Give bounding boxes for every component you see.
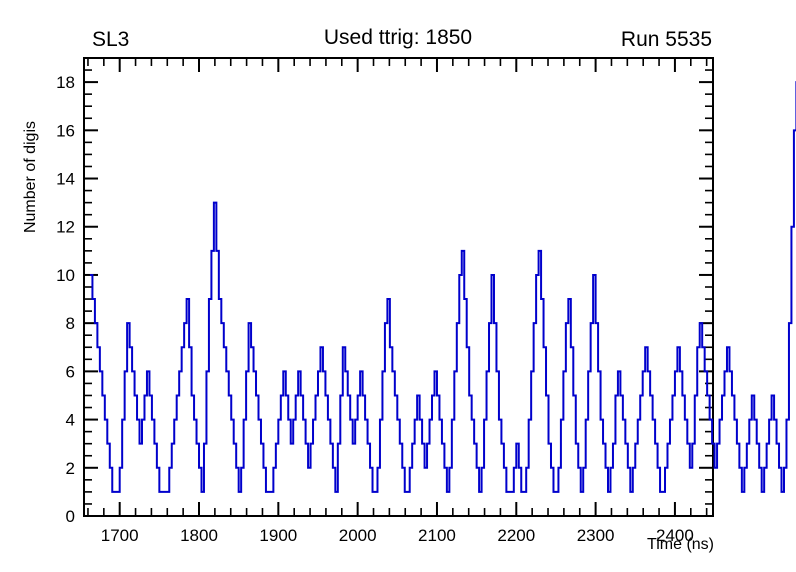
x-axis-tick-labels: 17001800190020002100220023002400 — [101, 526, 694, 545]
svg-text:2100: 2100 — [418, 526, 456, 545]
svg-text:1900: 1900 — [259, 526, 297, 545]
data-series-digis — [90, 82, 796, 516]
svg-text:12: 12 — [56, 218, 75, 237]
svg-text:2300: 2300 — [577, 526, 615, 545]
svg-text:14: 14 — [56, 170, 75, 189]
svg-text:0: 0 — [66, 507, 75, 526]
svg-text:10: 10 — [56, 266, 75, 285]
y-axis-ticks — [84, 58, 713, 516]
y-axis-tick-labels: 024681012141618 — [56, 73, 75, 526]
plot-area: 024681012141618 170018001900200021002200… — [0, 0, 796, 572]
svg-text:2000: 2000 — [339, 526, 377, 545]
svg-text:4: 4 — [66, 411, 75, 430]
svg-text:16: 16 — [56, 121, 75, 140]
root-canvas: SL3 Used ttrig: 1850 Run 5535 Number of … — [0, 0, 796, 572]
svg-text:2200: 2200 — [497, 526, 535, 545]
svg-text:6: 6 — [66, 362, 75, 381]
svg-text:18: 18 — [56, 73, 75, 92]
plot-frame — [84, 58, 713, 516]
svg-text:1800: 1800 — [180, 526, 218, 545]
svg-text:8: 8 — [66, 314, 75, 333]
svg-text:1700: 1700 — [101, 526, 139, 545]
svg-text:2400: 2400 — [656, 526, 694, 545]
svg-text:2: 2 — [66, 459, 75, 478]
